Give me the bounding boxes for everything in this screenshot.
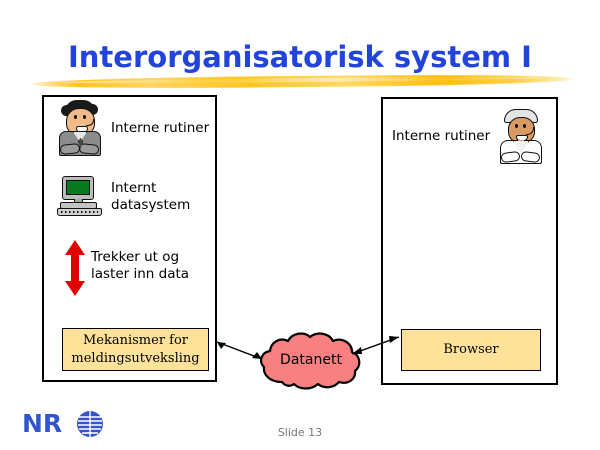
- right-internal-routines-label: Interne rutiner: [392, 128, 490, 145]
- right-internal-routines-row: Interne rutiner: [392, 108, 544, 164]
- connector-network-to-browser: [348, 332, 404, 360]
- connector-mechanism-to-network: [212, 336, 267, 364]
- title-brushstroke-underline: [28, 73, 576, 89]
- slide-number: Slide 13: [0, 426, 600, 439]
- left-internal-routines-row: Interne rutiner: [57, 100, 209, 156]
- businessman-icon: [57, 100, 103, 156]
- left-internal-system-label: Internt datasystem: [111, 180, 190, 214]
- left-extract-load-label: Trekker ut og laster inn data: [91, 249, 189, 283]
- browser-box[interactable]: Browser: [401, 329, 541, 371]
- left-internal-system-row: Internt datasystem: [57, 176, 190, 218]
- desktop-computer-icon: [57, 176, 103, 218]
- title-block: Interorganisatorisk system I: [0, 40, 600, 92]
- left-internal-routines-label: Interne rutiner: [111, 120, 209, 137]
- red-double-arrow-icon: [62, 240, 88, 296]
- page-title: Interorganisatorisk system I: [0, 40, 600, 74]
- mechanism-box[interactable]: Mekanismer for meldingsutveksling: [62, 328, 209, 371]
- doctor-icon: [498, 108, 544, 164]
- slide-canvas: Interorganisatorisk system I Interne rut…: [0, 0, 600, 450]
